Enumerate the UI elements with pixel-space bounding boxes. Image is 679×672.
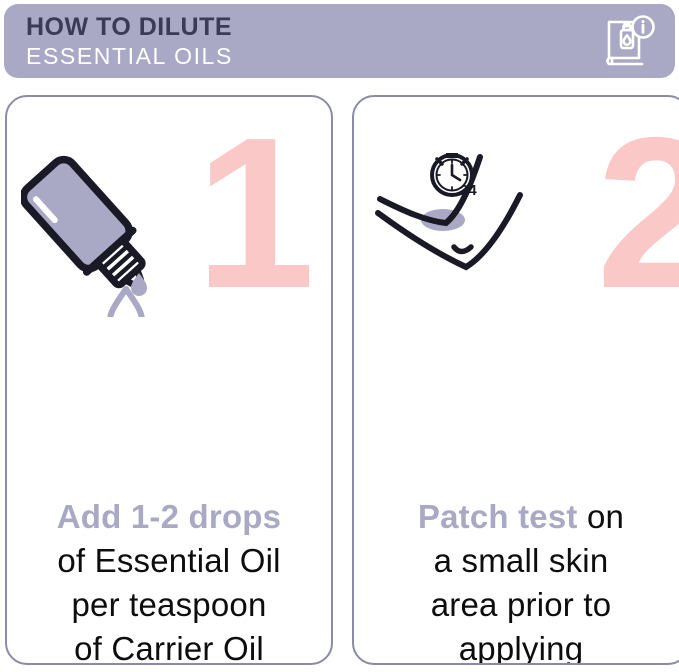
caption-line: Add 1-2 drops <box>13 495 325 539</box>
step-number-2: 2 <box>596 105 679 320</box>
caption-line: of Carrier Oil <box>13 627 325 665</box>
caption-line: area prior to <box>360 583 679 627</box>
caption-line: a small skin <box>360 539 679 583</box>
step-caption-1: Add 1-2 drops of Essential Oil per teasp… <box>7 495 331 665</box>
header-bar: HOW TO DILUTE ESSENTIAL OILS <box>4 4 675 78</box>
page-subtitle: ESSENTIAL OILS <box>26 42 233 70</box>
caption-line: Patch test on <box>360 495 679 539</box>
caption-line: applying <box>360 627 679 665</box>
caption-line: of Essential Oil <box>13 539 325 583</box>
header-text-block: HOW TO DILUTE ESSENTIAL OILS <box>26 12 233 70</box>
step-card-1: 1 Add 1-2 drops of Essential O <box>5 95 333 665</box>
page-title: HOW TO DILUTE <box>26 12 233 42</box>
arm-patch-test-icon: 24 <box>368 143 558 298</box>
bottle-info-icon <box>599 12 657 70</box>
step-number-1: 1 <box>195 105 309 320</box>
step-caption-2: Patch test on a small skin area prior to… <box>354 495 679 665</box>
stopwatch-label: 24 <box>460 182 477 199</box>
caption-line: per teaspoon <box>13 583 325 627</box>
dropper-bottle-icon <box>21 137 191 322</box>
step-card-2: 2 <box>352 95 679 665</box>
